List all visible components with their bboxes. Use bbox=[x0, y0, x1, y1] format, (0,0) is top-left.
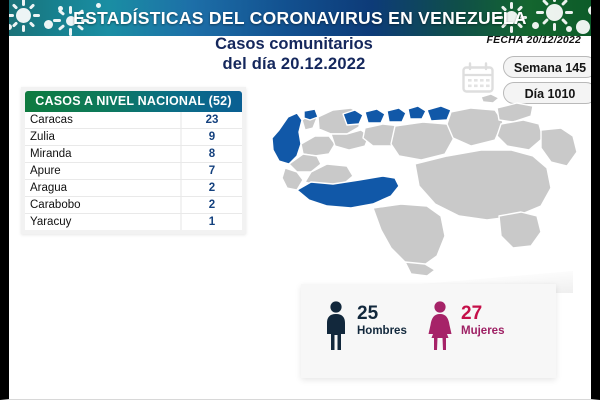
table-cell-value: 7 bbox=[180, 163, 242, 179]
gender-stat-female: 27 Mujeres bbox=[427, 300, 504, 352]
gender-stat-male: 25 Hombres bbox=[323, 300, 407, 352]
table-cell-value: 2 bbox=[180, 180, 242, 196]
table-row: Yaracuy 1 bbox=[25, 214, 242, 230]
table-row: Zulia 9 bbox=[25, 129, 242, 146]
table-cell-state: Carabobo bbox=[25, 197, 180, 213]
male-label: Hombres bbox=[357, 324, 407, 339]
map-state-amazonas bbox=[373, 204, 445, 266]
map-state-carabobo bbox=[365, 109, 385, 123]
table-row: Carabobo 2 bbox=[25, 197, 242, 214]
badge-semana[interactable]: Semana 145 bbox=[503, 56, 597, 78]
map-state-zulia bbox=[272, 113, 302, 164]
map-state-sucre bbox=[497, 103, 533, 122]
map-state-caracas bbox=[408, 106, 426, 119]
map-state-amazonas-south bbox=[405, 262, 435, 276]
female-figure-icon bbox=[427, 300, 453, 352]
map-state-bolivar-south bbox=[499, 212, 541, 248]
map-state-zulia-coast bbox=[304, 109, 318, 120]
map-state-anzoategui bbox=[447, 108, 503, 146]
map-state-miranda bbox=[427, 106, 451, 121]
table-cell-value: 8 bbox=[180, 146, 242, 162]
map-state-trujillo bbox=[301, 136, 335, 156]
male-figure-icon bbox=[323, 300, 349, 352]
table-cell-state: Apure bbox=[25, 163, 180, 179]
table-cell-state: Miranda bbox=[25, 146, 180, 162]
gender-stats-panel: 25 Hombres 27 Mujeres bbox=[301, 284, 556, 378]
table-row: Aragua 2 bbox=[25, 180, 242, 197]
table-cell-state: Aragua bbox=[25, 180, 180, 196]
map-state-bolivar bbox=[415, 150, 551, 220]
map-state-delta bbox=[541, 128, 577, 166]
table-cell-value: 2 bbox=[180, 197, 242, 213]
map-state-aragua bbox=[387, 108, 406, 122]
map-state-guarico bbox=[391, 122, 455, 160]
infographic-root: ESTADÍSTICAS DEL CORONAVIRUS EN VENEZUEL… bbox=[0, 0, 600, 400]
table-row: Miranda 8 bbox=[25, 146, 242, 163]
page-title-line2: del día 20.12.2022 bbox=[139, 54, 449, 74]
table-cell-state: Zulia bbox=[25, 129, 180, 145]
venezuela-map bbox=[255, 84, 600, 280]
table-cell-state: Caracas bbox=[25, 112, 180, 128]
table-cell-value: 1 bbox=[180, 214, 242, 230]
map-state-nueva-esparta bbox=[481, 94, 499, 103]
male-stat-text: 25 Hombres bbox=[357, 300, 407, 339]
table-row: Caracas 23 bbox=[25, 112, 242, 129]
national-cases-table: CASOS A NIVEL NACIONAL (52) Caracas 23 Z… bbox=[21, 87, 246, 234]
table-header: CASOS A NIVEL NACIONAL (52) bbox=[25, 91, 242, 112]
female-stat-text: 27 Mujeres bbox=[461, 300, 504, 339]
male-count: 25 bbox=[357, 304, 407, 324]
table-cell-state: Yaracuy bbox=[25, 214, 180, 230]
female-count: 27 bbox=[461, 304, 504, 324]
page-title-line1: Casos comunitarios bbox=[139, 34, 449, 54]
table-cell-value: 23 bbox=[180, 112, 242, 128]
table-cell-value: 9 bbox=[180, 129, 242, 145]
female-label: Mujeres bbox=[461, 324, 504, 339]
table-row: Apure 7 bbox=[25, 163, 242, 180]
page-title: Casos comunitarios del día 20.12.2022 bbox=[139, 34, 449, 74]
map-state-monagas bbox=[497, 120, 543, 150]
banner-title: ESTADÍSTICAS DEL CORONAVIRUS EN VENEZUEL… bbox=[0, 0, 600, 36]
header-banner: ESTADÍSTICAS DEL CORONAVIRUS EN VENEZUEL… bbox=[0, 0, 600, 36]
